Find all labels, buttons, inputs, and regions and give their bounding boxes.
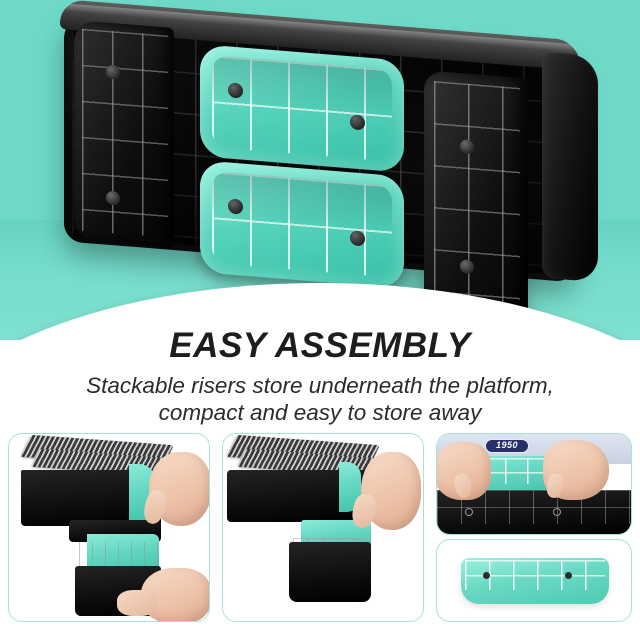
panel-lift-platform: [8, 433, 210, 622]
panel-insert-riser: 1950: [436, 433, 632, 535]
panel-1-scene: [9, 434, 209, 621]
feature-panel-row: 1950: [0, 433, 640, 623]
subtitle: Stackable risers store underneath the pl…: [0, 372, 640, 428]
teal-riser-upper-stud-right: [350, 114, 365, 130]
riser-right-stud-bottom: [460, 259, 474, 274]
teal-riser-lower: [200, 160, 404, 288]
panel-3-scene: 1950: [437, 434, 631, 534]
teal-riser-upper: [200, 44, 404, 172]
riser-stud-right: [565, 572, 572, 579]
panel-4-scene: [437, 540, 631, 621]
black-riser-left: [74, 20, 174, 248]
headline: EASY ASSEMBLY: [0, 326, 640, 367]
deck-socket-left: [465, 508, 473, 516]
black-riser-base: [289, 542, 371, 602]
text-block: EASY ASSEMBLY Stackable risers store und…: [0, 326, 640, 427]
platform-end-cap: [542, 52, 598, 283]
teal-riser-upper-shading: [212, 55, 392, 161]
riser-right-cell-grid: [434, 81, 520, 312]
riser-stud-left: [483, 572, 490, 579]
subtitle-line-1: Stackable risers store underneath the pl…: [0, 372, 640, 400]
riser-left-stud-top: [106, 65, 120, 80]
panel-riser-detail: [436, 539, 632, 622]
riser-left-stud-bottom: [106, 191, 120, 206]
hero-section: [0, 0, 640, 340]
shirt-badge: 1950: [485, 439, 529, 453]
panel-2-scene: [223, 434, 423, 621]
product-marketing-image: EASY ASSEMBLY Stackable risers store und…: [0, 0, 640, 629]
deck-socket-right: [553, 508, 561, 516]
teal-riser-lower-stud-right: [350, 230, 365, 246]
panel-remove-riser: [222, 433, 424, 622]
subtitle-line-2: compact and easy to store away: [0, 399, 640, 427]
teal-riser-lower-shading: [212, 171, 392, 277]
teal-riser-stack: [200, 44, 404, 288]
finger-lower: [117, 590, 157, 616]
teal-riser-upper-stud-left: [228, 82, 243, 98]
black-riser-right: [424, 70, 528, 322]
teal-riser-lower-stud-left: [228, 198, 243, 214]
riser-left-cell-grid: [82, 29, 168, 238]
riser-right-stud-top: [460, 139, 474, 154]
